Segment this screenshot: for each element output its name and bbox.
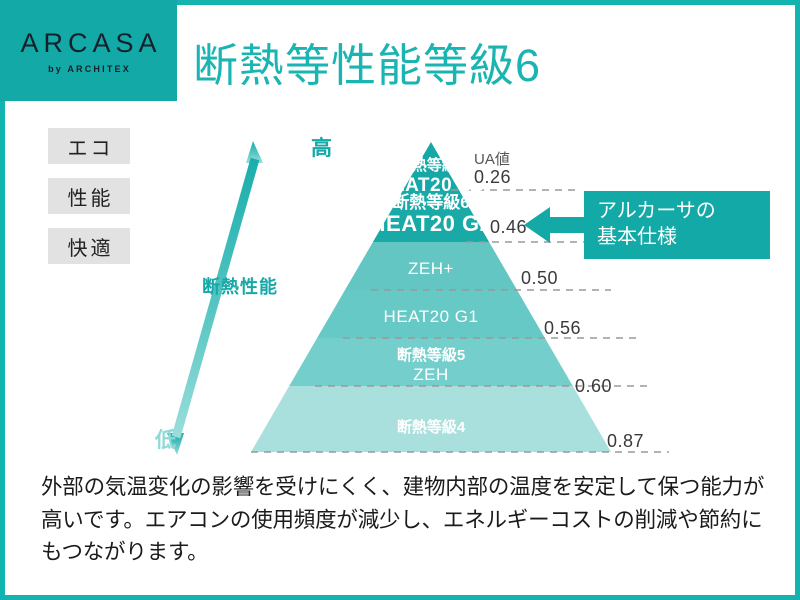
ua-value-050: 0.50 [521,268,558,289]
ua-guide-lines [251,142,671,457]
tag-comfort: 快適 [48,228,130,264]
logo-wordmark: ARCASA [15,28,161,59]
ua-value-087: 0.87 [607,431,644,452]
brand-logo: ARCASA by ARCHITEX [0,0,177,101]
callout-line-2: 基本仕様 [597,225,770,251]
logo-tagline: by ARCHITEX [46,64,131,74]
tag-performance: 性能 [48,178,130,214]
ua-value-046: 0.46 [490,217,527,238]
ua-value-056: 0.56 [544,318,581,339]
ua-value-026: 0.26 [474,167,511,188]
callout-arrow-icon [524,203,590,247]
slide-root: ARCASA by ARCHITEX 断熱等性能等級6 エコ 性能 快適 高 低… [0,0,800,600]
ua-value-060: 0.60 [575,376,612,397]
tag-list: エコ 性能 快適 [48,128,130,278]
tag-eco: エコ [48,128,130,164]
callout-box: アルカーサの 基本仕様 [584,191,770,259]
description-text: 外部の気温変化の影響を受けにくく、建物内部の温度を安定して保つ能力が高いです。エ… [41,471,773,569]
axis-label-low: 低 [155,424,176,454]
ua-column-header: UA値 [474,148,510,169]
page-title: 断熱等性能等級6 [193,29,541,94]
callout-line-1: アルカーサの [597,199,770,225]
